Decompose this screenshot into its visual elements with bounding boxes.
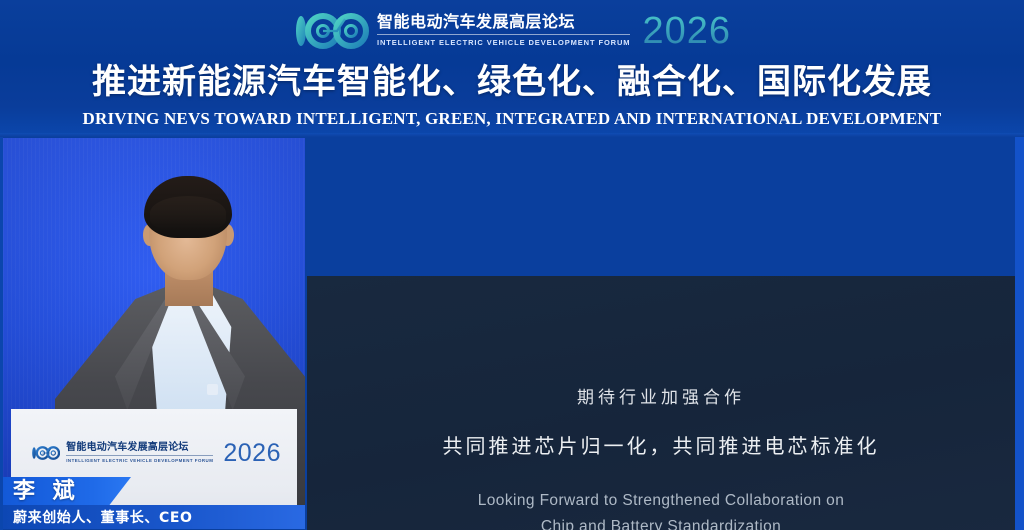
forum-100-logo-icon	[293, 13, 369, 49]
forum-100-logo-icon	[31, 440, 60, 466]
speaker-video-panel: 智能电动汽车发展高层论坛 INTELLIGENT ELECTRIC VEHICL…	[3, 138, 305, 529]
forum-title-en: INTELLIGENT ELECTRIC VEHICLE DEVELOPMENT…	[377, 35, 631, 49]
slide-heading-en-line1: Looking Forward to Strengthened Collabor…	[478, 488, 844, 514]
slide-content: 期待行业加强合作 共同推进芯片归一化，共同推进电芯标准化 Looking For…	[307, 276, 1015, 530]
slide-subheading-cn: 共同推进芯片归一化，共同推进电芯标准化	[443, 432, 880, 460]
speaker-role: 蔚来创始人、董事长、CEO	[3, 507, 193, 527]
frame-edge-left	[0, 137, 3, 530]
panel-divider	[305, 274, 307, 530]
podium-year: 2026	[223, 441, 281, 466]
speaker-lapel-pin	[207, 384, 218, 395]
podium-title-en: INTELLIGENT ELECTRIC VEHICLE DEVELOPMENT…	[66, 456, 213, 464]
forum-logo-lockup: 智能电动汽车发展高层论坛 INTELLIGENT ELECTRIC VEHICL…	[0, 8, 1024, 54]
forum-title-cn: 智能电动汽车发展高层论坛	[377, 13, 631, 35]
forum-year: 2026	[642, 12, 731, 50]
speaker-role-bar: 蔚来创始人、董事长、CEO	[3, 505, 305, 529]
slide-heading-en-line2: Chip and Battery Standardization	[541, 514, 781, 530]
broadcast-screen: 智能电动汽车发展高层论坛 INTELLIGENT ELECTRIC VEHICL…	[0, 0, 1024, 530]
podium-signage-text: 智能电动汽车发展高层论坛 INTELLIGENT ELECTRIC VEHICL…	[66, 442, 213, 464]
forum-logo-text: 智能电动汽车发展高层论坛 INTELLIGENT ELECTRIC VEHICL…	[377, 13, 631, 49]
frame-edge-right	[1015, 137, 1024, 530]
slide-heading-cn: 期待行业加强合作	[577, 386, 745, 410]
speaker-name: 李 斌	[3, 479, 80, 505]
podium-signage: 智能电动汽车发展高层论坛 INTELLIGENT ELECTRIC VEHICL…	[31, 427, 281, 479]
presentation-slide: 期待行业加强合作 共同推进芯片归一化，共同推进电芯标准化 Looking For…	[307, 276, 1015, 530]
page-title-cn: 推进新能源汽车智能化、绿色化、融合化、国际化发展	[0, 62, 1024, 102]
content-area: 智能电动汽车发展高层论坛 INTELLIGENT ELECTRIC VEHICL…	[0, 137, 1024, 530]
page-title-en: DRIVING NEVS TOWARD INTELLIGENT, GREEN, …	[0, 108, 1024, 130]
podium-title-cn: 智能电动汽车发展高层论坛	[66, 442, 213, 456]
event-header: 智能电动汽车发展高层论坛 INTELLIGENT ELECTRIC VEHICL…	[0, 0, 1024, 137]
